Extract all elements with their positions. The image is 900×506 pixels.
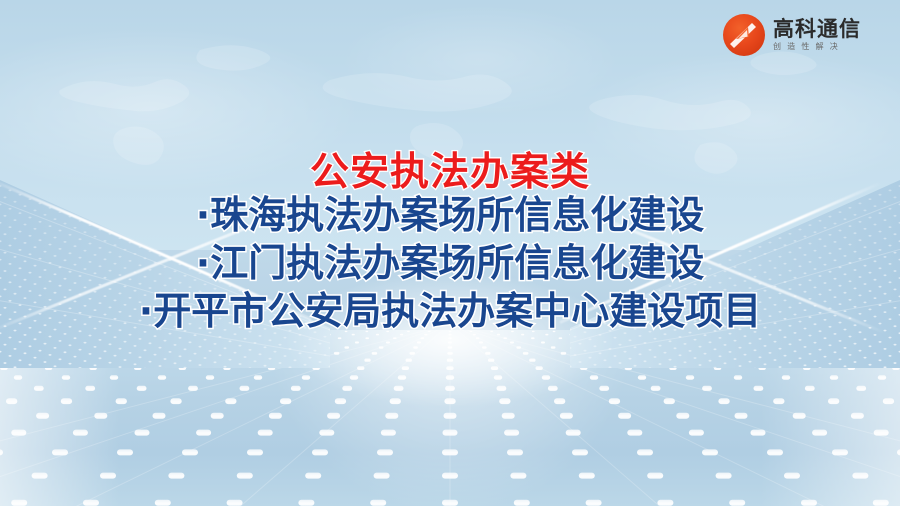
orange-circle-arrow-logo-icon — [722, 13, 766, 57]
slide-title: 公安执法办案类 — [0, 141, 900, 197]
company-logo[interactable]: 高科通信 创造性解决 — [722, 10, 892, 60]
logo-text-block: 高科通信 创造性解决 — [773, 17, 861, 52]
bullet-item-1: ·珠海执法办案场所信息化建设 — [0, 192, 900, 240]
bullet-item-2: ·江门执法办案场所信息化建设 — [0, 240, 900, 288]
slide-canvas: 高科通信 创造性解决 公安执法办案类 ·珠海执法办案场所信息化建设 ·江门执法办… — [0, 0, 900, 506]
logo-tagline: 创造性解决 — [773, 42, 861, 52]
bullet-list: ·珠海执法办案场所信息化建设 ·江门执法办案场所信息化建设 ·开平市公安局执法办… — [0, 192, 900, 336]
bullet-item-3: ·开平市公安局执法办案中心建设项目 — [0, 288, 900, 336]
logo-company-name: 高科通信 — [773, 18, 861, 40]
